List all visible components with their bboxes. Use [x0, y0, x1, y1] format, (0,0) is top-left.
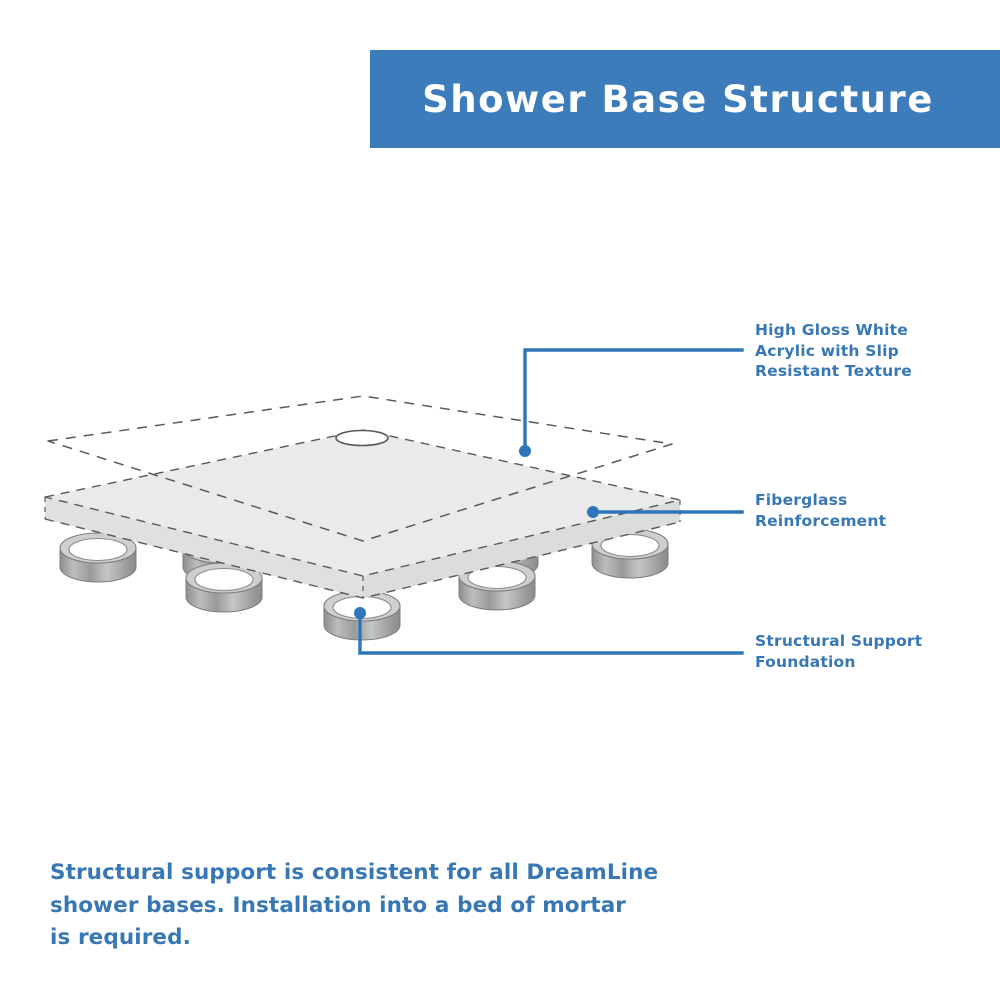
- leader-dot-acrylic: [519, 445, 531, 457]
- support-ring: [60, 533, 136, 582]
- callout-acrylic-line-3: Resistant Texture: [755, 361, 970, 382]
- fiberglass-slab: [45, 430, 680, 598]
- callout-label-acrylic: High Gloss White Acrylic with Slip Resis…: [755, 320, 970, 382]
- leader-line-support: [354, 607, 742, 653]
- caption-line-1: Structural support is consistent for all…: [50, 857, 670, 890]
- leader-line-acrylic: [519, 350, 742, 457]
- leader-dot-support: [354, 607, 366, 619]
- callout-label-fiberglass: Fiberglass Reinforcement: [755, 490, 970, 531]
- caption-line-2: shower bases. Installation into a bed of…: [50, 890, 670, 923]
- diagram-page: Shower Base Structure: [0, 0, 1000, 1000]
- callout-acrylic-line-2: Acrylic with Slip: [755, 341, 970, 362]
- callout-support-line-1: Structural Support: [755, 631, 970, 652]
- drain-opening: [336, 431, 388, 446]
- callout-fiberglass-line-1: Fiberglass: [755, 490, 970, 511]
- footer-caption: Structural support is consistent for all…: [50, 857, 670, 955]
- callout-label-support: Structural Support Foundation: [755, 631, 970, 672]
- callout-acrylic-line-1: High Gloss White: [755, 320, 970, 341]
- callout-support-line-2: Foundation: [755, 652, 970, 673]
- leader-dot-fiberglass: [587, 506, 599, 518]
- caption-line-3: is required.: [50, 922, 670, 955]
- callout-fiberglass-line-2: Reinforcement: [755, 511, 970, 532]
